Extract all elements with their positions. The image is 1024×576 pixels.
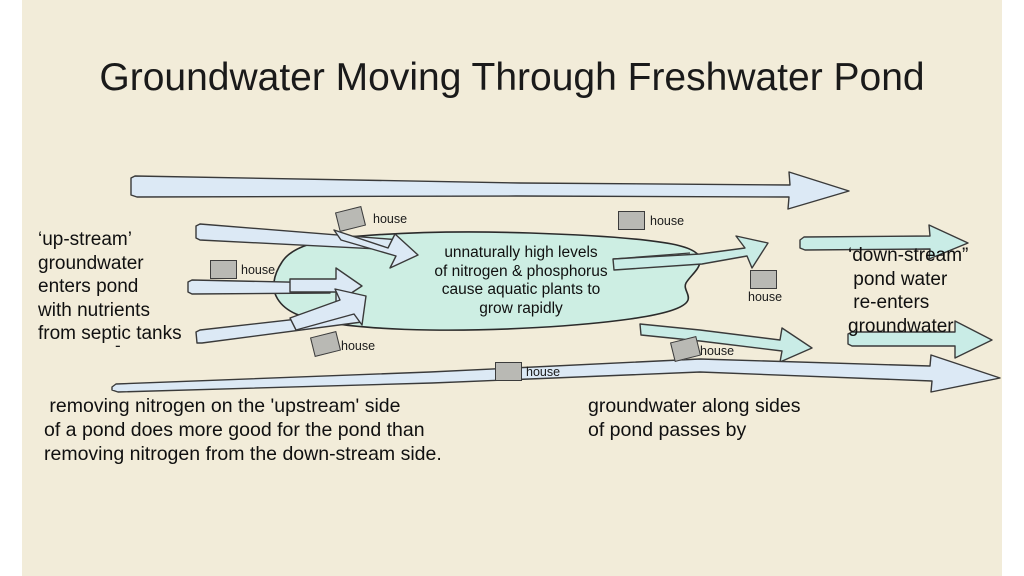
house-label: house [241, 263, 275, 277]
page-title: Groundwater Moving Through Freshwater Po… [0, 56, 1024, 100]
house-icon [750, 270, 777, 289]
house-icon [210, 260, 237, 279]
annotation-downstream: ‘down-stream” pond water re-enters groun… [848, 244, 968, 338]
flow-top-groundwater-band [131, 172, 849, 209]
house-label: house [650, 214, 684, 228]
house-icon [495, 362, 522, 381]
house-label: house [526, 365, 560, 379]
annotation-upstream-dash: - [115, 336, 121, 356]
annotation-bottom-right: groundwater along sides of pond passes b… [588, 394, 800, 442]
house-label: house [748, 290, 782, 304]
annotation-bottom-left: removing nitrogen on the 'upstream' side… [44, 394, 442, 466]
diagram-stage: .gw { fill:#dce9f5; stroke:#3a3a3a; stro… [0, 0, 1024, 576]
annotation-upstream: ‘up-stream’ groundwater enters pond with… [38, 228, 182, 346]
house-label: house [700, 344, 734, 358]
annotation-pond-center: unnaturally high levels of nitrogen & ph… [413, 244, 629, 318]
house-label: house [341, 339, 375, 353]
house-label: house [373, 212, 407, 226]
house-icon [618, 211, 645, 230]
